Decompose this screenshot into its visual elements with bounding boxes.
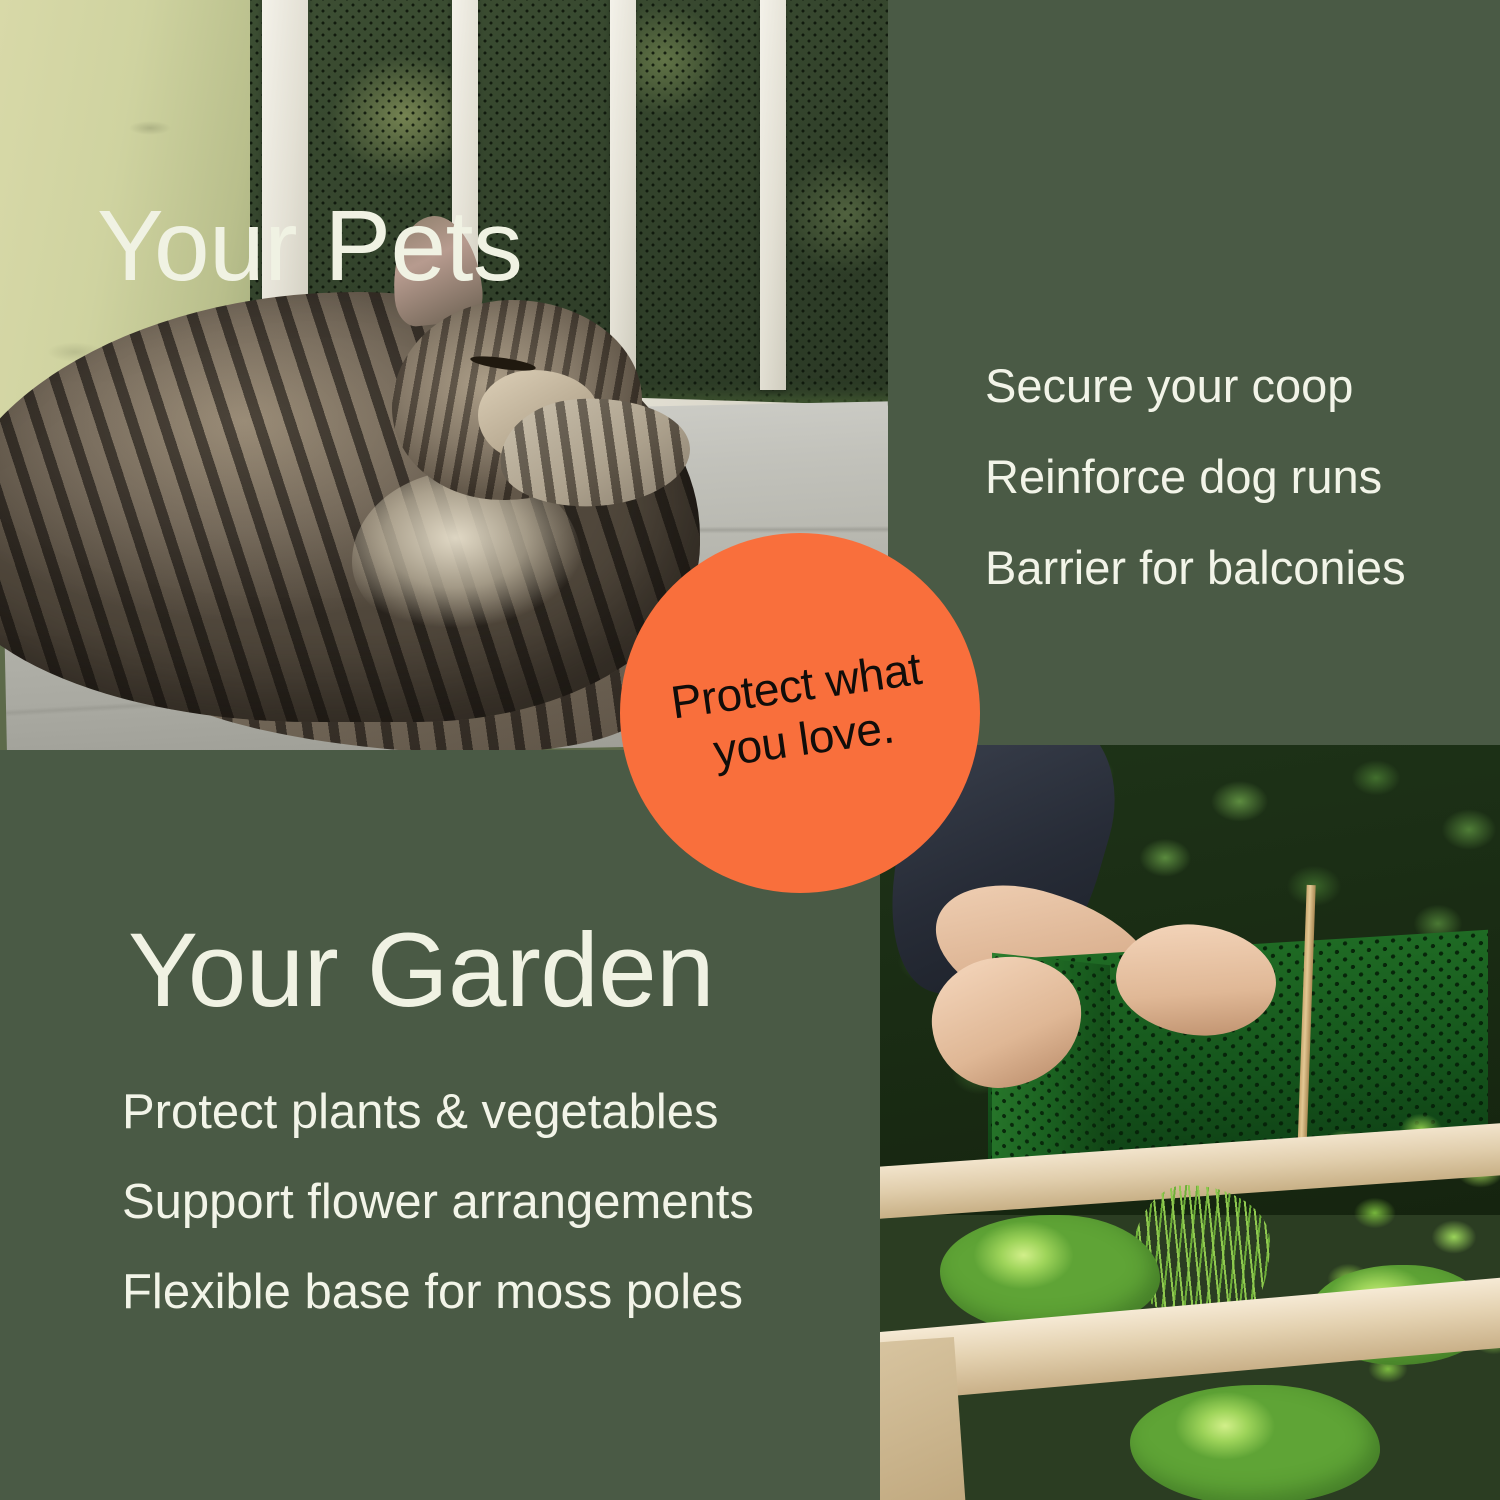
pets-heading: Your Pets [97, 196, 522, 296]
raised-bed-side-panel [880, 1337, 966, 1500]
infographic-canvas: Your Pets Secure your coop Reinforce dog… [0, 0, 1500, 1500]
garden-photo [880, 745, 1500, 1500]
list-item: Reinforce dog runs [985, 453, 1406, 500]
list-item: Support flower arrangements [122, 1178, 754, 1227]
window-frame-bar [610, 0, 636, 370]
list-item: Protect plants & vegetables [122, 1088, 754, 1137]
list-item: Secure your coop [985, 362, 1406, 409]
protect-what-you-love-badge: Protect what you love. [620, 533, 980, 893]
list-item: Barrier for balconies [985, 544, 1406, 591]
garden-heading: Your Garden [128, 918, 714, 1023]
lettuce-head [1130, 1385, 1380, 1500]
window-frame-bar [760, 0, 786, 390]
pets-benefit-list: Secure your coop Reinforce dog runs Barr… [985, 362, 1406, 635]
badge-label: Protect what you love. [659, 641, 941, 785]
list-item: Flexible base for moss poles [122, 1268, 754, 1317]
garden-benefit-list: Protect plants & vegetables Support flow… [122, 1088, 754, 1358]
